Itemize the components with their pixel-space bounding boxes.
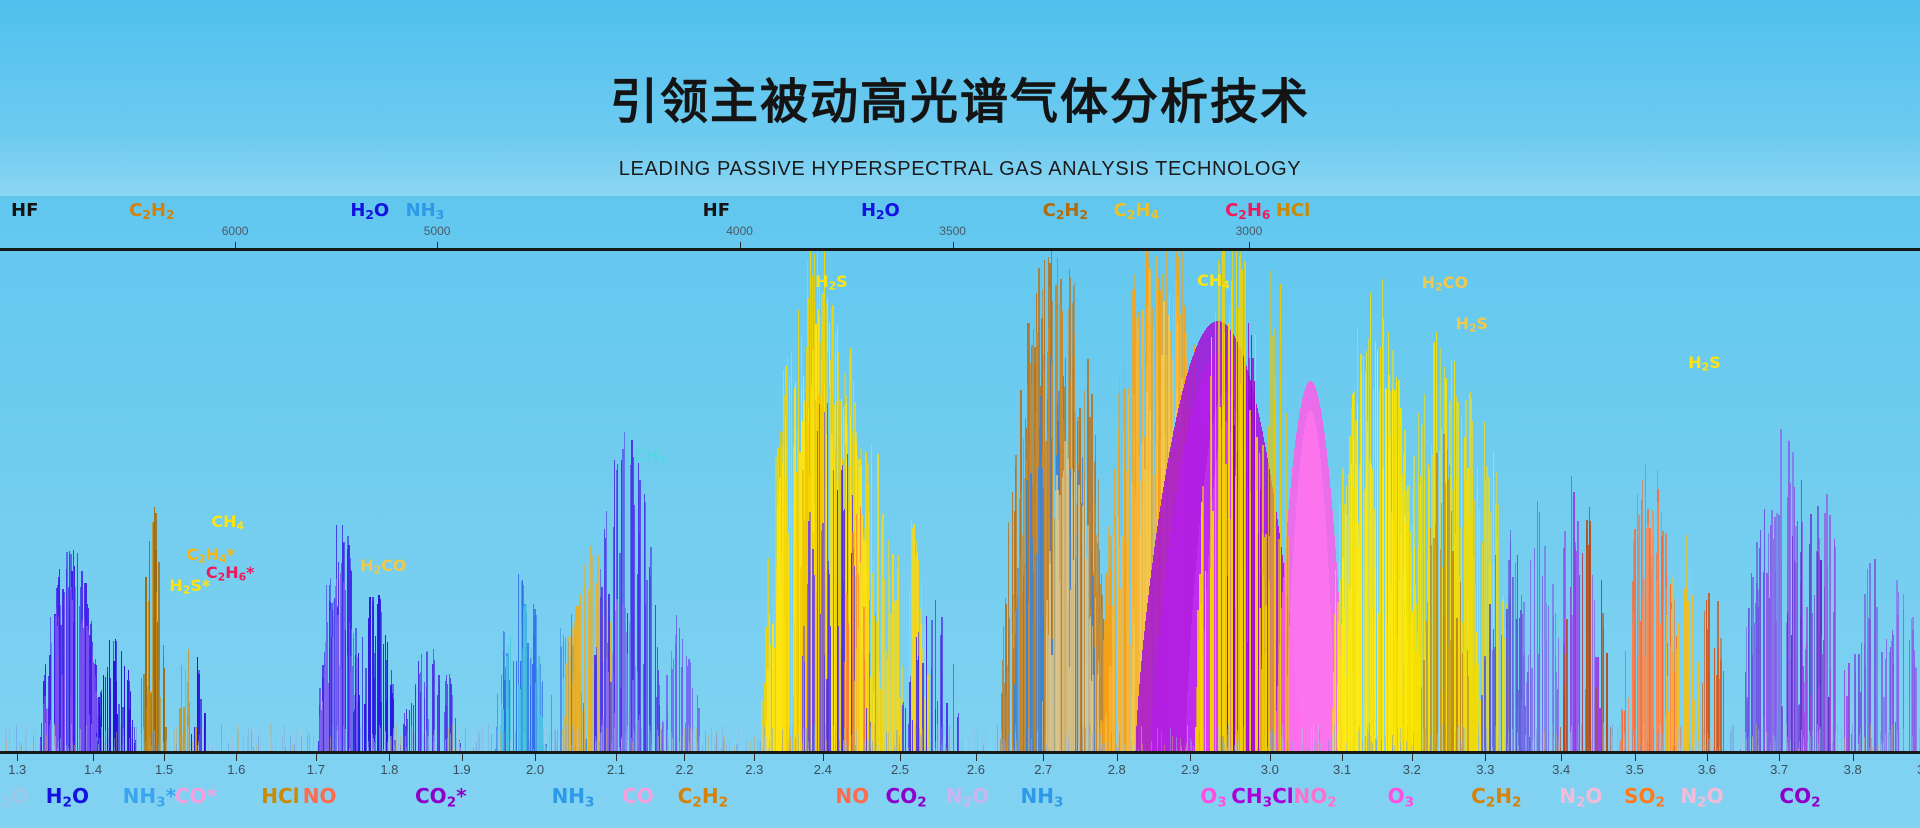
bottom-axis-band: 1.31.41.51.61.71.81.92.02.12.22.32.42.52… [0, 754, 1920, 828]
bottom-axis-tick-mark [93, 754, 94, 761]
bottom-gas-label: NH3 [552, 784, 595, 810]
bottom-gas-label: NO [303, 784, 337, 808]
bottom-axis-tick-mark [1635, 754, 1636, 761]
bottom-axis-tick-mark [1853, 754, 1854, 761]
bottom-axis-tick-mark [1117, 754, 1118, 761]
bottom-axis-tick-label: 2.1 [607, 762, 625, 777]
bottom-gas-label: N2O [1680, 784, 1723, 810]
bottom-axis-tick-mark [17, 754, 18, 761]
top-axis-band: HFC2H2H2ONH3HFH2OC2H2C2H4C2H6HCl60005000… [0, 196, 1920, 248]
bottom-gas-label: O3 [1388, 784, 1414, 810]
bottom-axis-tick-label: 2.0 [526, 762, 544, 777]
bottom-axis-tick-mark [1707, 754, 1708, 761]
top-gas-label: NH3 [406, 200, 445, 222]
poster-root: 引领主被动高光谱气体分析技术 LEADING PASSIVE HYPERSPEC… [0, 0, 1920, 828]
bottom-axis-tick-label: 1.8 [380, 762, 398, 777]
bottom-axis-tick-mark [1485, 754, 1486, 761]
bottom-axis-tick-label: 1.3 [8, 762, 26, 777]
top-axis-tick-label: 4000 [726, 224, 753, 238]
bottom-axis-tick-mark [1779, 754, 1780, 761]
bottom-axis-tick-label: 2.5 [891, 762, 909, 777]
header-banner: 引领主被动高光谱气体分析技术 LEADING PASSIVE HYPERSPEC… [0, 0, 1920, 196]
bottom-axis-tick-label: 1.9 [453, 762, 471, 777]
bottom-axis-tick-label: 3.2 [1403, 762, 1421, 777]
bottom-axis-tick-mark [616, 754, 617, 761]
bottom-axis-tick-mark [316, 754, 317, 761]
inline-gas-annotation: H2CO [360, 556, 406, 577]
bottom-axis-tick-label: 3.7 [1770, 762, 1788, 777]
bottom-axis-tick-label: 3.6 [1698, 762, 1716, 777]
bottom-gas-label: CO2 [1779, 784, 1820, 810]
bottom-gas-label: CO [622, 784, 654, 808]
bottom-gas-label: H2O [46, 784, 89, 810]
bottom-axis-tick-label: 2.4 [814, 762, 832, 777]
inline-gas-annotation: H2S [1456, 314, 1489, 335]
bottom-gas-label: C2H2 [678, 784, 728, 810]
bottom-gas-label: NH3 [1021, 784, 1064, 810]
inline-gas-annotation: CH4 [1197, 271, 1230, 292]
top-axis-tick-label: 3000 [1236, 224, 1263, 238]
bottom-axis-tick-label: 2.6 [967, 762, 985, 777]
top-gas-label: C2H2 [129, 200, 174, 222]
bottom-gas-label: CO2 [886, 784, 927, 810]
bottom-axis-tick-mark [1412, 754, 1413, 761]
spectra-canvas [0, 251, 1920, 751]
bottom-axis-tick-label: 3.1 [1333, 762, 1351, 777]
inline-gas-annotation: C2H6* [206, 563, 255, 584]
bottom-axis-tick-label: 2.8 [1108, 762, 1126, 777]
bottom-gas-label: C2H2 [1471, 784, 1521, 810]
bottom-axis-tick-mark [1190, 754, 1191, 761]
inline-gas-annotation: H2S [815, 272, 848, 293]
top-gas-label: C2H6 [1225, 200, 1270, 222]
bottom-gas-label: SO2 [1624, 784, 1665, 810]
bottom-axis-tick-mark [1043, 754, 1044, 761]
top-gas-label: HCl [1276, 200, 1310, 221]
top-gas-label: HF [11, 200, 38, 221]
bottom-gas-label: NO2 [1293, 784, 1336, 810]
inline-gas-annotation: H2S [1688, 353, 1721, 374]
top-gas-label: C2H4 [1114, 200, 1159, 222]
bottom-axis-tick-mark [1270, 754, 1271, 761]
page-subtitle: LEADING PASSIVE HYPERSPECTRAL GAS ANALYS… [0, 158, 1920, 181]
inline-gas-annotation: H2CO [1422, 273, 1468, 294]
spectrum-chart: HFC2H2H2ONH3HFH2OC2H2C2H4C2H6HCl60005000… [0, 196, 1920, 828]
bottom-axis-tick-label: 2.3 [745, 762, 763, 777]
bottom-axis-tick-label: 1.7 [307, 762, 325, 777]
bottom-axis-tick-mark [823, 754, 824, 761]
bottom-axis-tick-mark [1342, 754, 1343, 761]
top-axis-tick-label: 5000 [424, 224, 451, 238]
bottom-axis-tick-label: 3.8 [1844, 762, 1862, 777]
page-title: 引领主被动高光谱气体分析技术 [0, 62, 1920, 132]
inline-gas-annotation: CH4 [211, 512, 244, 533]
bottom-axis-tick-mark [535, 754, 536, 761]
bottom-axis-tick-label: 2.2 [675, 762, 693, 777]
top-gas-label: HF [703, 200, 730, 221]
top-axis-tick-label: 6000 [222, 224, 249, 238]
bottom-axis-tick-label: 2.7 [1034, 762, 1052, 777]
bottom-axis-tick-label: 3.3 [1476, 762, 1494, 777]
top-axis-tick-label: 3500 [939, 224, 966, 238]
bottom-axis-tick-mark [684, 754, 685, 761]
bottom-axis-tick-mark [754, 754, 755, 761]
bottom-axis-tick-label: 3.0 [1261, 762, 1279, 777]
bottom-gas-label: N2O [0, 784, 28, 810]
inline-gas-annotation: CH4 [634, 446, 667, 467]
top-gas-label: H2O [861, 200, 900, 222]
bottom-axis-tick-mark [462, 754, 463, 761]
bottom-axis-tick-mark [164, 754, 165, 761]
inline-gas-annotation: H2S* [169, 576, 210, 597]
bottom-gas-label: CO2* [415, 784, 467, 810]
bottom-axis-tick-label: 2.9 [1181, 762, 1199, 777]
bottom-gas-label: CO* [175, 784, 217, 808]
bottom-gas-label: NO [835, 784, 869, 808]
bottom-axis-tick-mark [976, 754, 977, 761]
bottom-axis-tick-label: 1.5 [155, 762, 173, 777]
bottom-axis-tick-label: 1.6 [227, 762, 245, 777]
top-gas-label: H2O [350, 200, 389, 222]
bottom-gas-label: N2O [946, 784, 989, 810]
bottom-gas-label: CH3Cl [1231, 784, 1293, 810]
bottom-gas-label: NH3* [123, 784, 176, 810]
bottom-gas-label: O3 [1200, 784, 1226, 810]
bottom-gas-label: HCl [261, 784, 299, 808]
bottom-axis-tick-mark [900, 754, 901, 761]
bottom-axis-tick-label: 3.5 [1626, 762, 1644, 777]
bottom-axis-tick-mark [389, 754, 390, 761]
bottom-axis-tick-mark [236, 754, 237, 761]
bottom-axis-tick-label: 1.4 [84, 762, 102, 777]
bottom-axis-tick-label: 3.4 [1552, 762, 1570, 777]
bottom-gas-label: N2O [1559, 784, 1602, 810]
top-gas-label: C2H2 [1043, 200, 1088, 222]
bottom-axis-tick-mark [1561, 754, 1562, 761]
